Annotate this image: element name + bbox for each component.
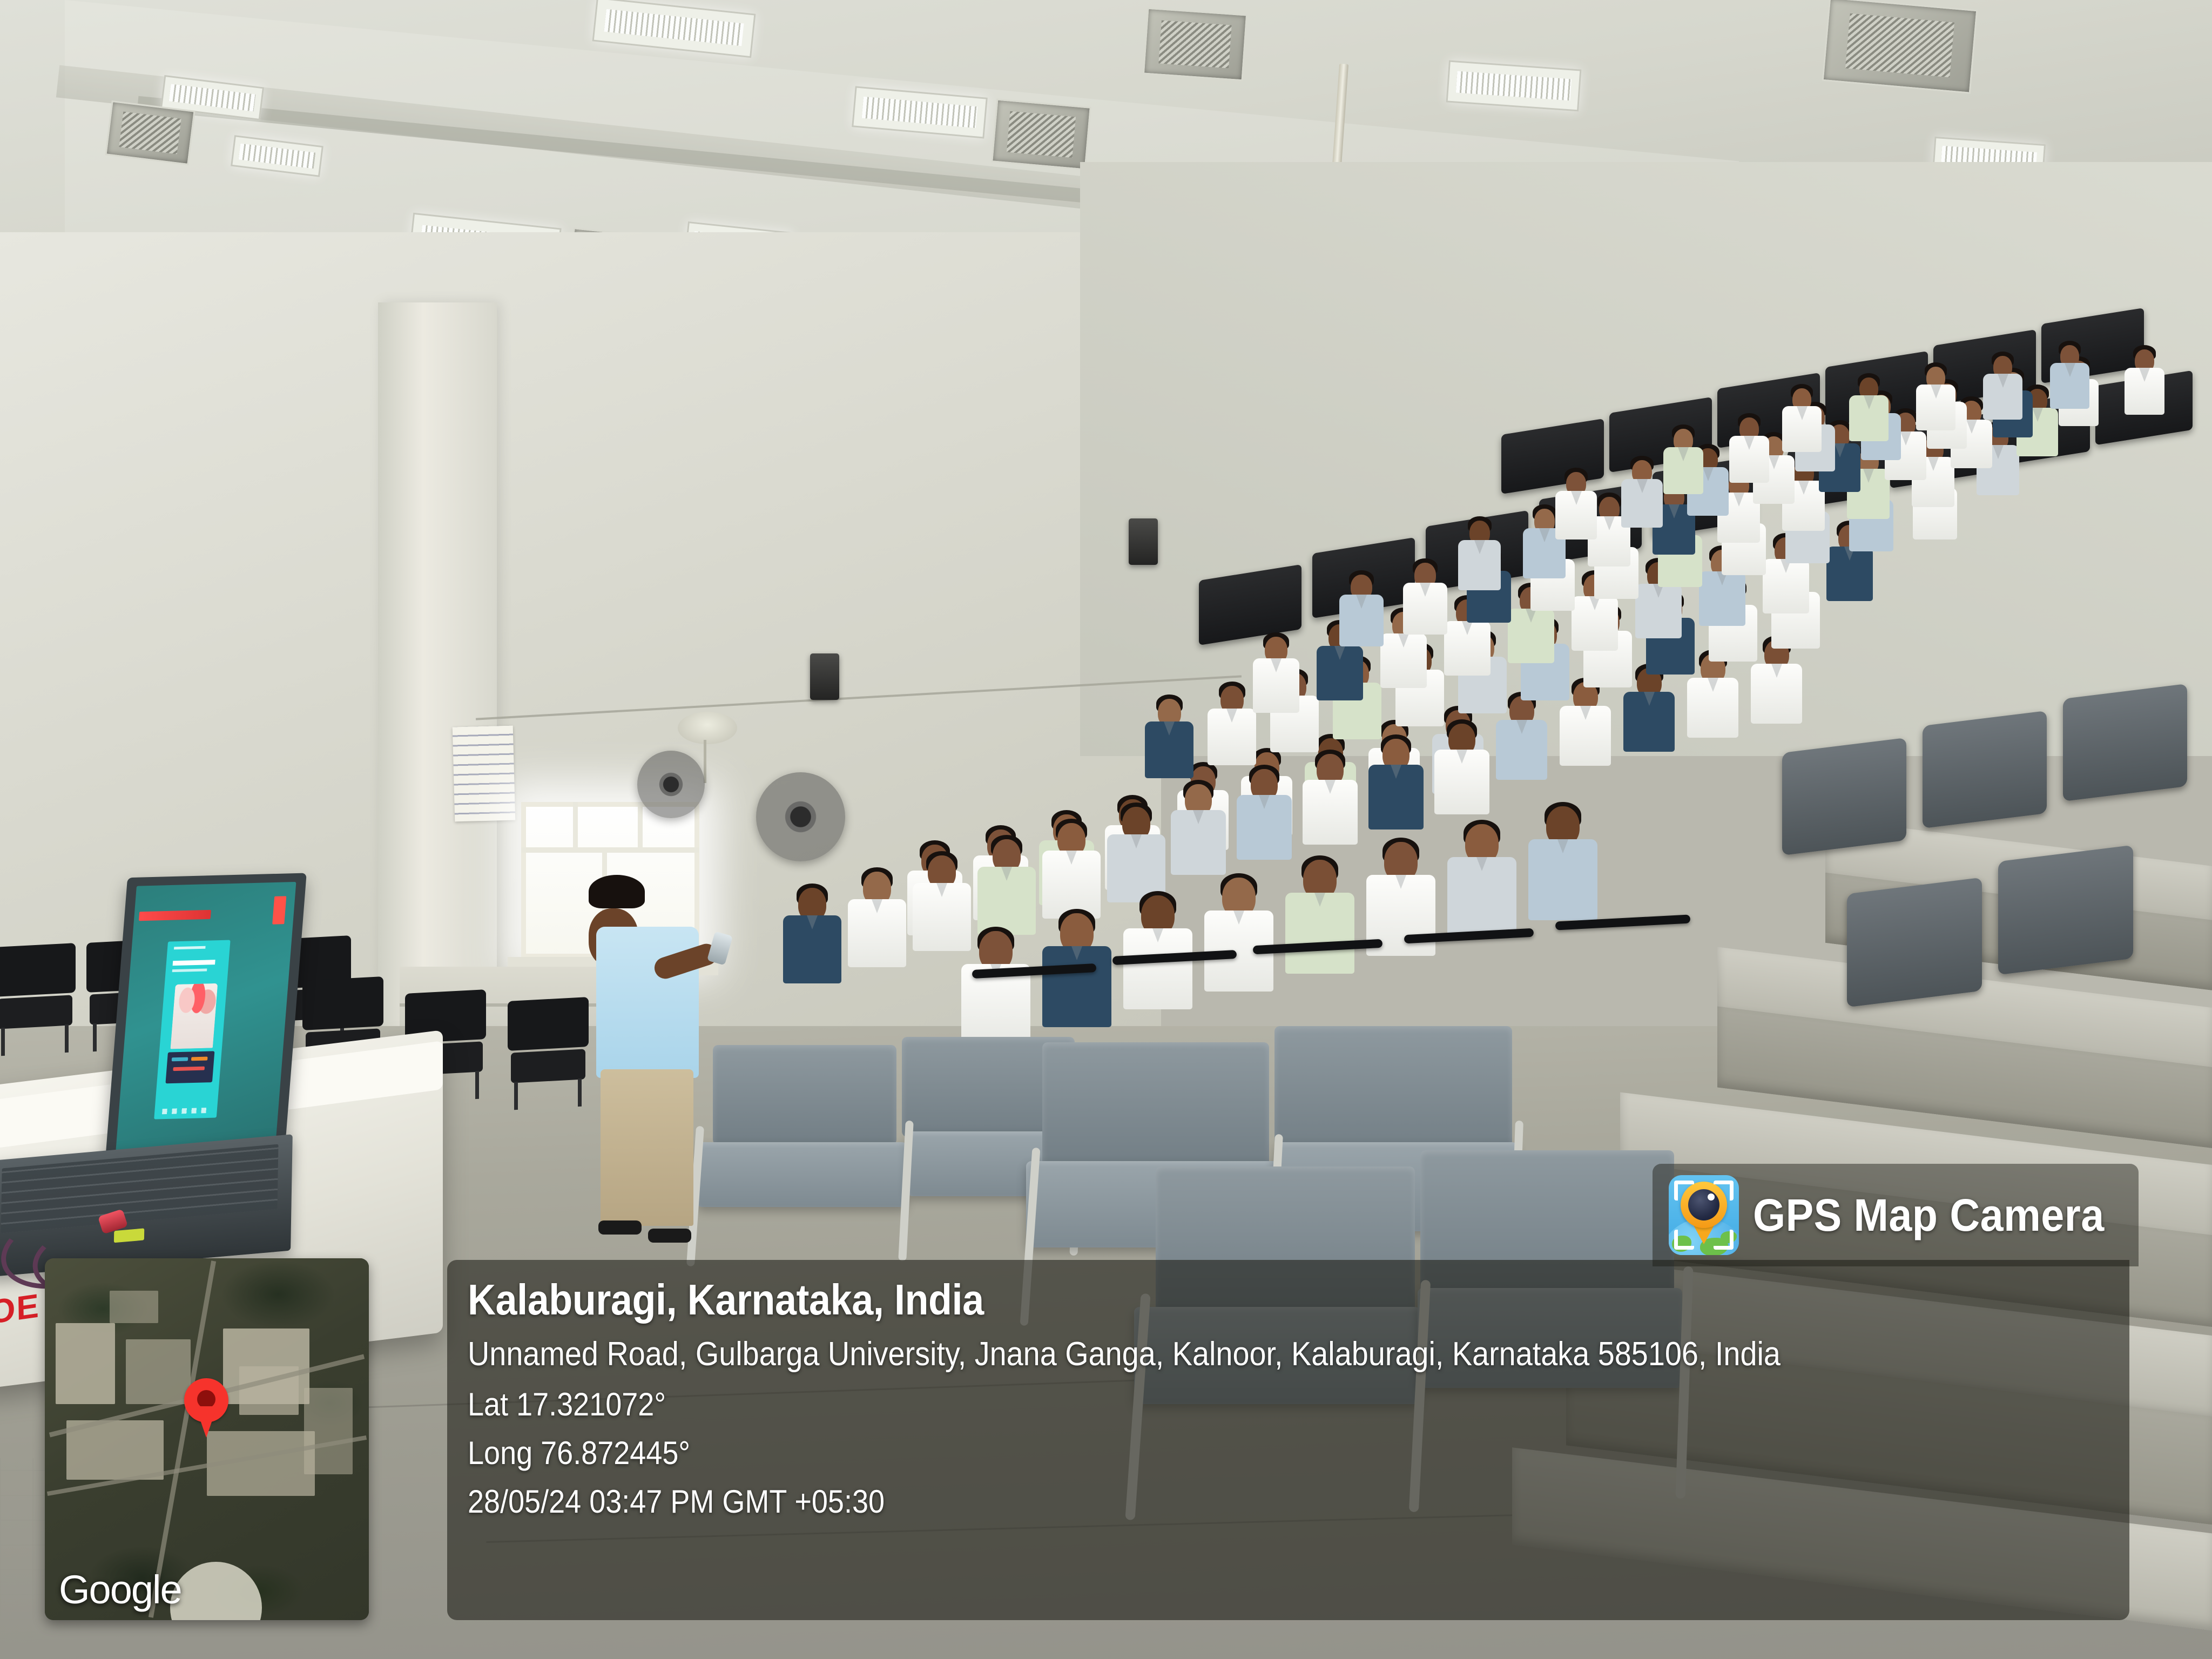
latitude-value: Lat 17.321072°: [468, 1388, 1963, 1421]
coat-lapel: [1928, 457, 1939, 471]
coat-lapel: [1998, 374, 2008, 388]
person-torso: [1826, 547, 1873, 601]
audience-member: [2050, 343, 2089, 412]
coat-lapel: [1604, 516, 1615, 530]
coat-lapel: [1391, 765, 1401, 779]
stacking-chair: [508, 997, 589, 1104]
person-torso: [1042, 851, 1101, 919]
person-torso: [977, 867, 1036, 935]
audience-member: [1528, 804, 1597, 925]
audience-member: [1687, 652, 1738, 741]
coat-lapel: [2139, 368, 2150, 382]
coat-lapel: [1703, 467, 1714, 481]
gps-info-panel: Kalaburagi, Karnataka, India Unnamed Roa…: [447, 1260, 2129, 1620]
slide-footer-block: [165, 1051, 214, 1083]
ceiling-fan-mount-icon: [678, 712, 737, 744]
audience-member: [1339, 572, 1384, 650]
ac-vent-icon: [1143, 8, 1247, 82]
coat-lapel: [1420, 583, 1431, 597]
coat-lapel: [1474, 540, 1485, 554]
coat-lapel: [1797, 406, 1808, 420]
audience-member: [1983, 354, 2022, 422]
coat-lapel: [1557, 839, 1568, 853]
app-branding-bar: GPS Map Camera: [1653, 1164, 2139, 1266]
person-torso: [848, 899, 906, 967]
person-torso: [1380, 633, 1427, 688]
audience-member: [1621, 458, 1663, 530]
slide-controls: [162, 1108, 210, 1114]
location-title: Kalaburagi, Karnataka, India: [468, 1278, 1963, 1321]
slide-photo: [170, 983, 218, 1049]
person-torso: [1572, 596, 1618, 651]
coat-lapel: [1071, 946, 1082, 960]
screenshot-root: OE: [0, 0, 2212, 1659]
coat-lapel: [1152, 928, 1163, 942]
audience-member: [1458, 518, 1501, 594]
auditorium-seat: [1847, 878, 1982, 1008]
coat-lapel: [1066, 851, 1077, 865]
coat-lapel: [1314, 893, 1325, 907]
laptop-screen-lid: [104, 873, 307, 1179]
foreground-bench: [691, 1045, 1080, 1272]
map-thumbnail[interactable]: Google: [45, 1258, 369, 1620]
audience-member: [1729, 415, 1769, 485]
person-torso: [1496, 720, 1547, 780]
person-torso: [1983, 374, 2022, 420]
coat-lapel: [1835, 443, 1845, 457]
person-torso: [1555, 491, 1597, 539]
audience-member: [1208, 684, 1256, 768]
wall-speaker-icon: [1129, 518, 1158, 565]
coat-lapel: [1580, 706, 1591, 720]
coat-lapel: [807, 915, 818, 929]
audience-member: [2125, 347, 2164, 417]
gps-map-camera-logo-icon: [1669, 1175, 1739, 1255]
person-torso: [1663, 447, 1703, 494]
presenter-shirt: [596, 927, 699, 1078]
coat-lapel: [1539, 528, 1550, 542]
slide-accent-bar: [272, 896, 286, 924]
person-torso: [1621, 479, 1663, 528]
audience-member: [783, 886, 841, 987]
coat-lapel: [1769, 455, 1779, 469]
coat-lapel: [1325, 780, 1336, 794]
coat-lapel: [1708, 678, 1718, 692]
audience-member: [1237, 767, 1292, 864]
location-address: Unnamed Road, Gulbarga University, Jnana…: [468, 1338, 1963, 1371]
coat-lapel: [1966, 420, 1977, 434]
ac-vent-icon: [105, 100, 195, 165]
coat-lapel: [2065, 363, 2075, 377]
coat-lapel: [1193, 810, 1204, 824]
capture-timestamp: 28/05/24 03:47 PM GMT +05:30: [468, 1486, 1963, 1518]
slide-card: [154, 940, 230, 1120]
coat-lapel: [1516, 720, 1527, 734]
person-torso: [2050, 363, 2089, 409]
audience-member: [977, 837, 1036, 939]
coat-lapel: [1456, 750, 1467, 764]
coat-lapel: [872, 899, 882, 913]
person-torso: [1508, 609, 1554, 663]
audience-member: [1916, 365, 1955, 433]
presenter-hair: [589, 875, 645, 908]
person-torso: [1434, 750, 1489, 814]
person-torso: [1751, 664, 1802, 724]
coat-lapel: [1798, 481, 1809, 495]
audience-member: [1403, 561, 1447, 638]
audience-member: [848, 869, 906, 971]
person-torso: [1916, 385, 1955, 430]
presenter: [589, 875, 713, 1253]
auditorium-seat: [2063, 684, 2187, 801]
coat-lapel: [1395, 875, 1406, 889]
map-provider-watermark: Google: [59, 1567, 181, 1613]
audience-member: [1145, 697, 1193, 781]
coat-lapel: [1931, 385, 1941, 399]
wall-speaker-icon: [810, 653, 839, 700]
location-pin-icon: [184, 1378, 228, 1422]
coat-lapel: [1001, 867, 1012, 881]
ac-vent-icon: [1822, 0, 1978, 94]
person-torso: [1317, 646, 1363, 700]
audience-member: [1285, 858, 1354, 979]
slide-title-bar: [139, 910, 211, 921]
coat-lapel: [2032, 408, 2043, 422]
longitude-value: Long 76.872445°: [468, 1437, 1963, 1469]
person-torso: [1123, 928, 1192, 1009]
person-torso: [1368, 765, 1424, 829]
person-torso: [1171, 810, 1226, 875]
audience-member: [1434, 721, 1489, 818]
wall-notice-paper: [453, 726, 516, 822]
person-torso: [1339, 595, 1384, 646]
coat-lapel: [1864, 395, 1874, 409]
person-torso: [1635, 584, 1682, 638]
audience-member: [1303, 752, 1358, 848]
auditorium-seat: [1923, 711, 2047, 828]
person-torso: [1763, 559, 1809, 613]
audience-member: [1849, 375, 1889, 444]
coat-lapel: [1863, 469, 1874, 483]
presenter-trousers: [601, 1069, 693, 1226]
person-torso: [1208, 709, 1256, 765]
audience-member: [1555, 470, 1597, 542]
audience-member: [961, 929, 1030, 1050]
person-torso: [783, 915, 841, 983]
coat-lapel: [936, 883, 947, 897]
presenter-shoe: [648, 1229, 691, 1243]
person-torso: [1560, 706, 1611, 766]
person-torso: [1699, 571, 1745, 626]
coat-lapel: [1637, 479, 1648, 493]
coat-lapel: [1164, 721, 1175, 736]
audience-member: [1204, 875, 1273, 996]
person-torso: [2125, 368, 2164, 415]
coat-lapel: [1476, 857, 1487, 871]
coat-lapel: [1271, 658, 1282, 672]
person-torso: [1782, 406, 1822, 452]
coat-lapel: [1226, 709, 1237, 723]
audience-member: [1253, 635, 1299, 716]
coat-lapel: [1644, 692, 1655, 706]
person-torso: [1145, 721, 1193, 778]
person-torso: [1237, 795, 1292, 860]
coat-lapel: [1993, 445, 2004, 459]
person-torso: [1285, 893, 1354, 974]
audience-member: [1447, 822, 1516, 943]
person-torso: [1528, 839, 1597, 920]
presenter-shoe: [598, 1220, 642, 1235]
coat-lapel: [1233, 911, 1244, 925]
person-torso: [1042, 946, 1111, 1027]
person-torso: [1729, 436, 1769, 483]
audience-member: [1368, 737, 1424, 833]
coat-lapel: [1131, 834, 1142, 848]
coat-lapel: [1356, 595, 1367, 609]
person-torso: [1403, 583, 1447, 635]
app-name: GPS Map Camera: [1753, 1189, 2105, 1242]
coat-lapel: [1744, 436, 1755, 450]
coat-lapel: [1900, 431, 1911, 446]
audience-member: [1782, 386, 1822, 455]
audience-member: [1171, 782, 1226, 879]
audience-member: [1042, 821, 1101, 922]
coat-lapel: [1771, 664, 1782, 678]
person-torso: [1303, 780, 1358, 845]
person-torso: [1849, 395, 1889, 441]
coat-lapel: [1571, 491, 1582, 505]
person-torso: [1623, 692, 1675, 752]
person-torso: [1458, 540, 1501, 590]
person-torso: [1444, 621, 1491, 676]
coat-lapel: [1678, 447, 1689, 461]
person-torso: [1253, 658, 1299, 713]
audience-member: [1663, 427, 1703, 497]
person-torso: [1447, 857, 1516, 938]
wall-fan-icon: [637, 751, 705, 818]
wall-fan-icon: [756, 772, 845, 861]
coat-lapel: [1669, 504, 1680, 518]
auditorium-seat: [1782, 738, 1906, 855]
person-torso: [1687, 678, 1738, 738]
coat-lapel: [1259, 795, 1270, 809]
laptop-display: [114, 882, 296, 1166]
stacking-chair: [0, 943, 76, 1050]
auditorium-seat: [1998, 845, 2133, 975]
ac-vent-icon: [991, 99, 1091, 171]
coat-lapel: [1734, 493, 1744, 507]
